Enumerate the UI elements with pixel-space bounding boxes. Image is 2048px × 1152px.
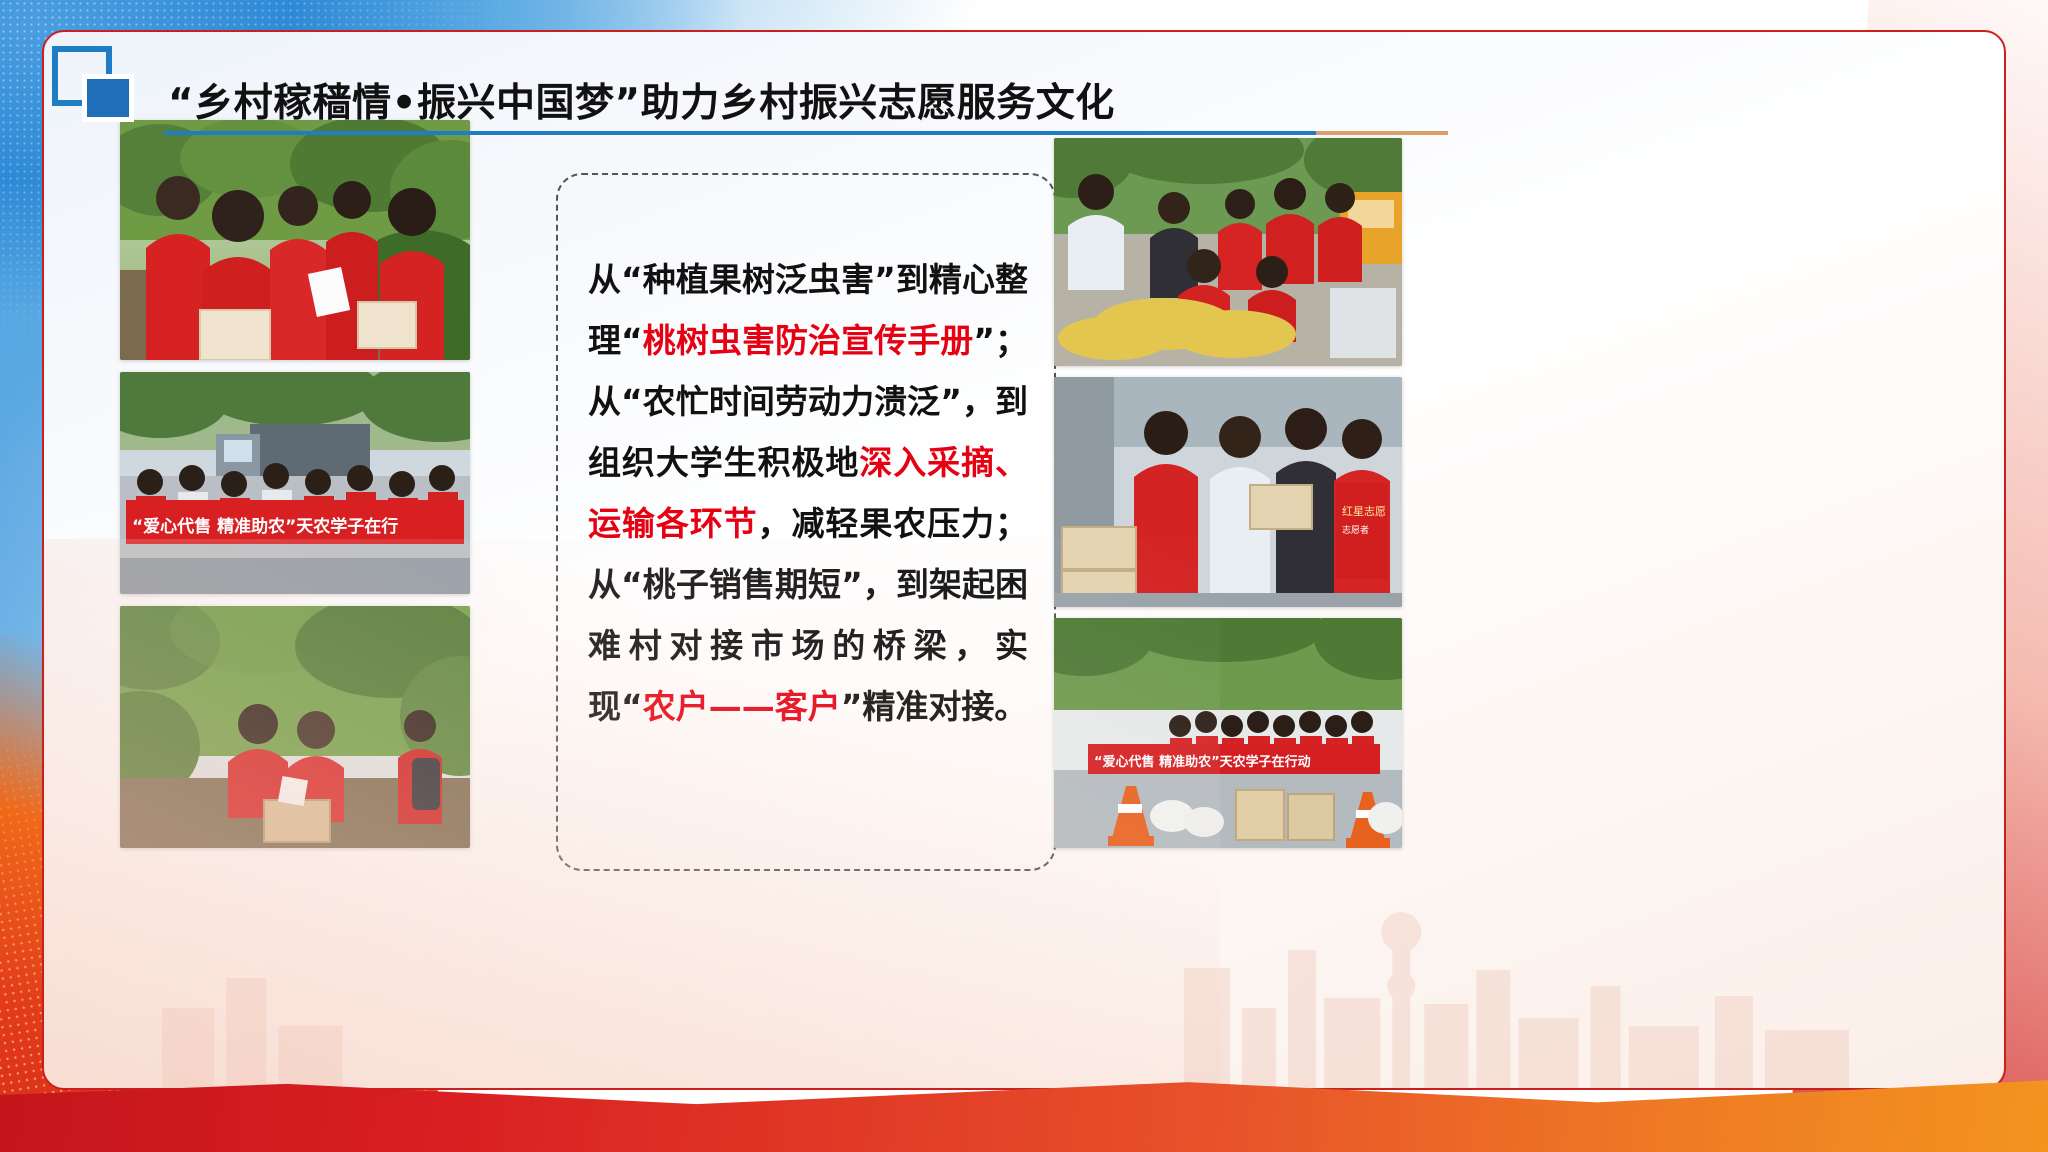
- photo-banner-volunteers-truck: “爱心代售 精准助农”天农学子在行: [120, 372, 470, 594]
- photo-warehouse-boxes-volunteers: 红星志愿 志愿者: [1054, 377, 1402, 607]
- slide-card: “乡村稼穑情•振兴中国梦”助力乡村振兴志愿服务文化: [42, 30, 2006, 1090]
- svg-text:志愿者: 志愿者: [1342, 524, 1369, 536]
- svg-text:“爱心代售 精准助农”天农学子在行动: “爱心代售 精准助农”天农学子在行动: [1094, 754, 1311, 770]
- photo-corn-harvest-volunteers: [1054, 138, 1402, 366]
- photo-students-packing-peaches: [120, 606, 470, 848]
- text-segment-6: ”精准对接。: [841, 687, 1028, 726]
- title-underline-gold: [1316, 131, 1448, 135]
- photo-group-banner-boxes: “爱心代售 精准助农”天农学子在行动: [1054, 618, 1402, 848]
- slide-root: “乡村稼穑情•振兴中国梦”助力乡村振兴志愿服务文化: [0, 0, 2048, 1152]
- photo-students-group-orchard: [120, 120, 470, 360]
- city-skyline-watermark-icon: [122, 858, 1925, 1088]
- text-segment-5-highlight: 农户——客户: [643, 687, 841, 726]
- svg-text:“爱心代售 精准助农”天农学子在行: “爱心代售 精准助农”天农学子在行: [132, 516, 398, 537]
- text-segment-1-highlight: 桃树虫害防治宣传手册: [643, 321, 974, 360]
- logo-filled-square-icon: [82, 74, 134, 122]
- page-title: “乡村稼穑情•振兴中国梦”助力乡村振兴志愿服务文化: [168, 72, 1115, 128]
- highlight-text-box: 从“种植果树泛虫害”到精心整理“桃树虫害防治宣传手册”；从“农忙时间劳动力溃泛”…: [556, 173, 1056, 871]
- title-underline-blue: [164, 131, 1319, 135]
- slide-header: “乡村稼穑情•振兴中国梦”助力乡村振兴志愿服务文化: [44, 32, 2004, 132]
- two-squares-logo-icon: [52, 46, 138, 120]
- body-paragraph: 从“种植果树泛虫害”到精心整理“桃树虫害防治宣传手册”；从“农忙时间劳动力溃泛”…: [588, 249, 1028, 737]
- svg-text:红星志愿: 红星志愿: [1342, 505, 1386, 518]
